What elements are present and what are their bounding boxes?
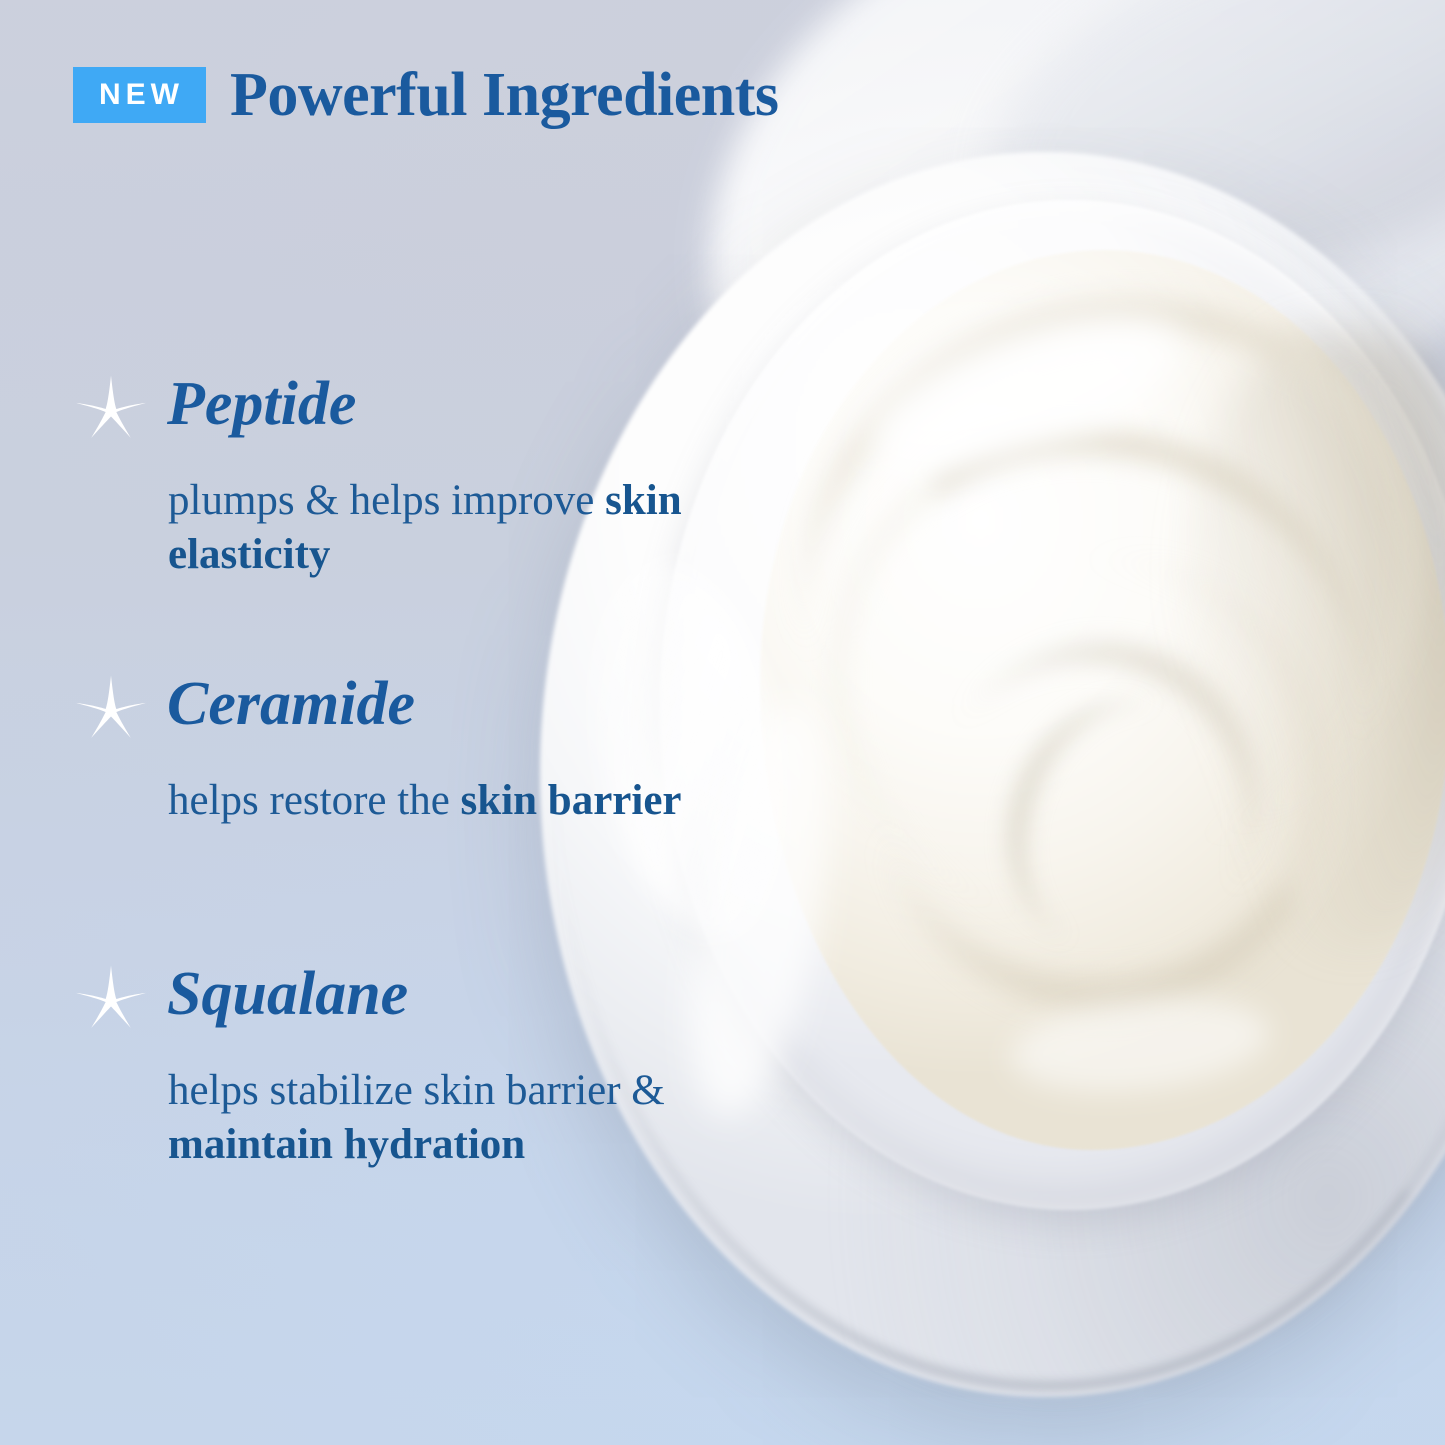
description-plain: helps stabilize skin barrier & bbox=[168, 1067, 665, 1114]
header: NEW Powerful Ingredients bbox=[73, 64, 779, 126]
new-badge: NEW bbox=[73, 67, 206, 123]
description-emphasis: skin barrier bbox=[461, 777, 682, 824]
ingredient-heading-row: Squalane bbox=[73, 962, 708, 1040]
ingredient-item: Squalane helps stabilize skin barrier & … bbox=[73, 962, 708, 1172]
ingredient-name: Squalane bbox=[167, 962, 408, 1027]
ingredient-description: plumps & helps improve skin elasticity bbox=[168, 474, 708, 582]
sparkle-icon bbox=[73, 374, 149, 450]
sparkle-icon bbox=[73, 964, 149, 1040]
ingredient-heading-row: Ceramide bbox=[73, 672, 682, 750]
ingredient-description: helps restore the skin barrier bbox=[168, 774, 682, 828]
ingredient-item: Peptide plumps & helps improve skin elas… bbox=[73, 372, 708, 582]
description-plain: plumps & helps improve bbox=[168, 477, 594, 524]
ingredient-heading-row: Peptide bbox=[73, 372, 708, 450]
ingredient-description: helps stabilize skin barrier & maintain … bbox=[168, 1064, 708, 1172]
ingredient-item: Ceramide helps restore the skin barrier bbox=[73, 672, 682, 828]
description-plain: helps restore the bbox=[168, 777, 450, 824]
ingredient-name: Peptide bbox=[167, 372, 356, 437]
sparkle-icon bbox=[73, 674, 149, 750]
description-emphasis: maintain hydration bbox=[168, 1121, 525, 1168]
content-layer: NEW Powerful Ingredients Peptide plumps … bbox=[0, 0, 1445, 1445]
ingredient-name: Ceramide bbox=[167, 672, 415, 737]
page-title: Powerful Ingredients bbox=[230, 64, 779, 126]
infographic-canvas: NEW Powerful Ingredients Peptide plumps … bbox=[0, 0, 1445, 1445]
